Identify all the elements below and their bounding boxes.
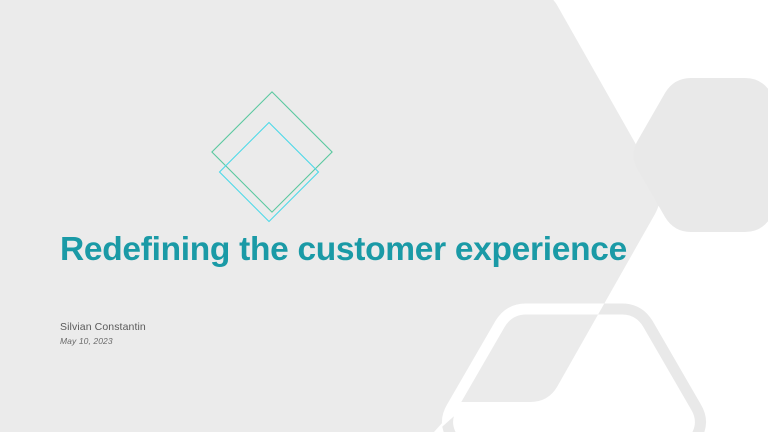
author-name: Silvian Constantin bbox=[60, 321, 146, 335]
title-slide: Redefining the customer experience Silvi… bbox=[0, 0, 768, 432]
slide-title: Redefining the customer experience bbox=[60, 231, 660, 270]
author-block: Silvian Constantin May 10, 2023 bbox=[60, 321, 146, 347]
slide-text-layer: Redefining the customer experience Silvi… bbox=[0, 0, 768, 432]
presentation-date: May 10, 2023 bbox=[60, 336, 146, 347]
